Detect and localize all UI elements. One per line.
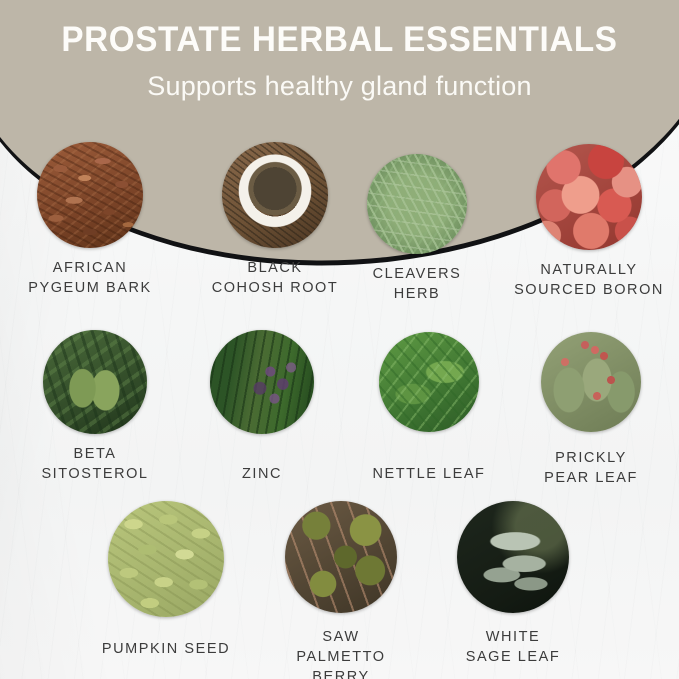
ingredient-item-saw-palmetto-berry[interactable]: SAW PALMETTO BERRY: [276, 501, 406, 679]
page-subtitle: Supports healthy gland function: [0, 71, 679, 102]
ingredient-item-white-sage-leaf[interactable]: WHITE SAGE LEAF: [449, 501, 577, 667]
ingredient-item-zinc[interactable]: ZINC: [200, 330, 324, 484]
ingredient-label: SAW PALMETTO BERRY: [276, 627, 406, 679]
bark-photo-icon: [37, 142, 143, 248]
ingredient-label: PRICKLY PEAR LEAF: [526, 448, 656, 488]
ingredient-item-beta-sitosterol[interactable]: BETA SITOSTEROL: [33, 330, 157, 484]
infographic-canvas: PROSTATE HERBAL ESSENTIALS Supports heal…: [0, 0, 679, 679]
cleavers-herb-photo-icon: [367, 154, 467, 254]
ingredient-label: ZINC: [200, 464, 324, 484]
ingredient-item-black-cohosh-root[interactable]: BLACK COHOSH ROOT: [207, 142, 343, 298]
ingredient-item-nettle-leaf[interactable]: NETTLE LEAF: [367, 332, 491, 484]
ingredient-item-naturally-sourced-boron[interactable]: NATURALLY SOURCED BORON: [514, 144, 664, 300]
ingredient-label: PUMPKIN SEED: [101, 639, 231, 659]
white-sage-photo-icon: [457, 501, 569, 613]
avocado-photo-icon: [43, 330, 147, 434]
nettle-leaf-photo-icon: [379, 332, 479, 432]
kale-leaf-photo-icon: [210, 330, 314, 434]
ingredient-item-cleavers-herb[interactable]: CLEAVERS HERB: [352, 154, 482, 304]
ingredient-label: NETTLE LEAF: [367, 464, 491, 484]
ingredient-label: BLACK COHOSH ROOT: [207, 258, 343, 298]
ingredient-item-pumpkin-seed[interactable]: PUMPKIN SEED: [101, 501, 231, 659]
ingredient-label: WHITE SAGE LEAF: [449, 627, 577, 667]
apples-photo-icon: [536, 144, 642, 250]
ingredient-label: AFRICAN PYGEUM BARK: [22, 258, 158, 298]
ingredient-item-prickly-pear-leaf[interactable]: PRICKLY PEAR LEAF: [526, 332, 656, 488]
pumpkin-seed-photo-icon: [108, 501, 224, 617]
ingredient-label: BETA SITOSTEROL: [33, 444, 157, 484]
cohosh-root-photo-icon: [222, 142, 328, 248]
ingredient-label: CLEAVERS HERB: [352, 264, 482, 304]
saw-palmetto-photo-icon: [285, 501, 397, 613]
page-title: PROSTATE HERBAL ESSENTIALS: [17, 20, 662, 60]
ingredient-item-african-pygeum-bark[interactable]: AFRICAN PYGEUM BARK: [22, 142, 158, 298]
prickly-pear-photo-icon: [541, 332, 641, 432]
ingredient-label: NATURALLY SOURCED BORON: [514, 260, 664, 300]
